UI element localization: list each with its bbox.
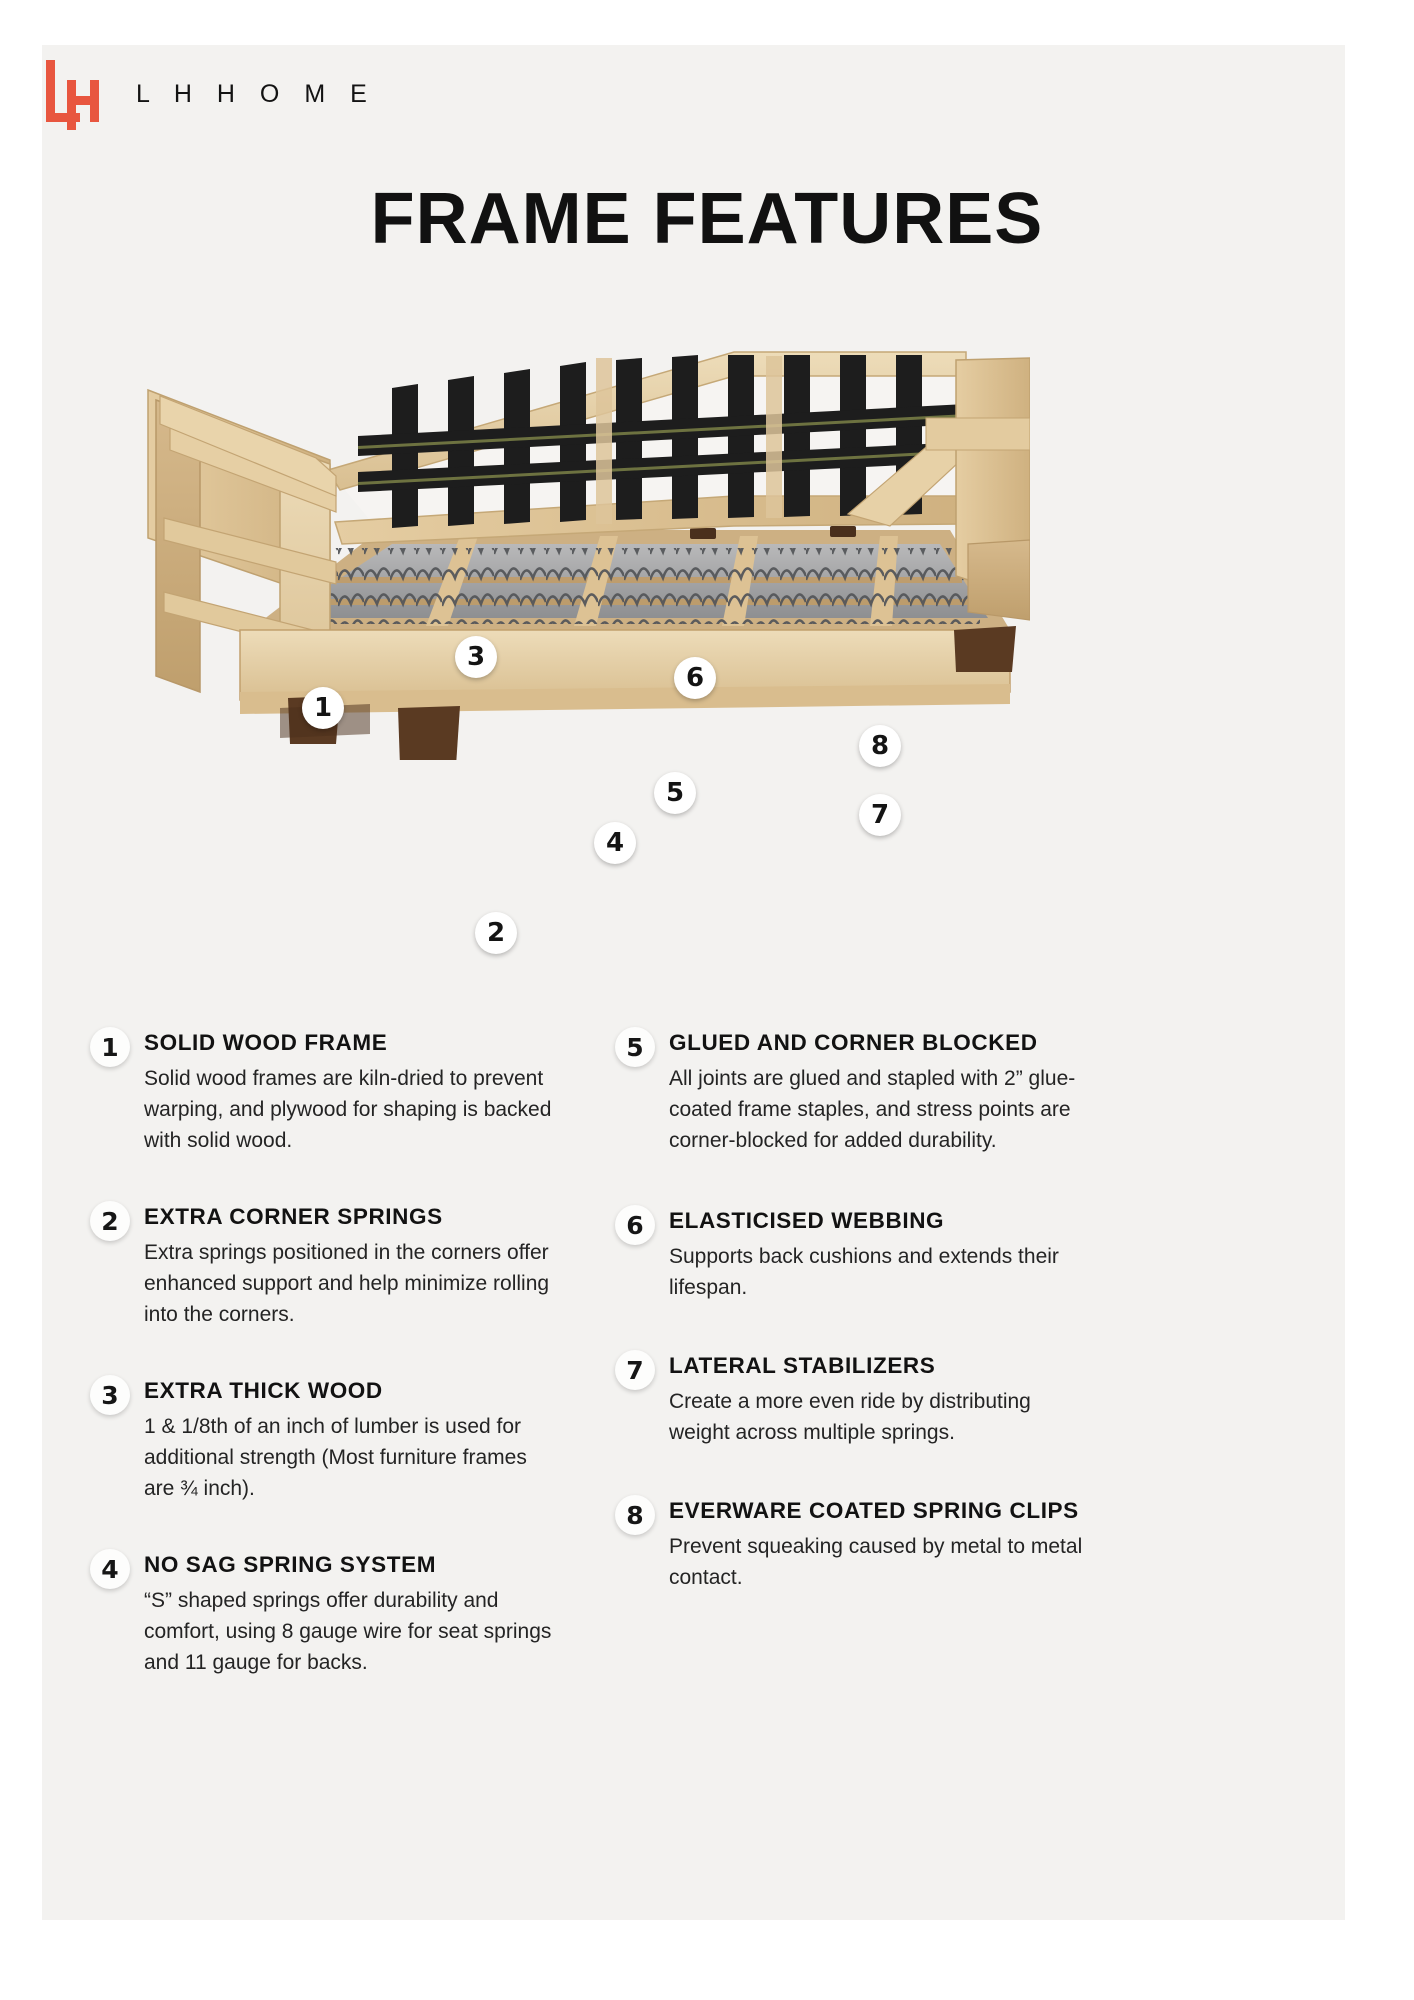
feature-title-1: SOLID WOOD FRAME [144, 1030, 560, 1056]
feature-badge-2: 2 [90, 1201, 130, 1241]
lh-monogram-logo-icon [44, 58, 106, 130]
feature-badge-1: 1 [90, 1027, 130, 1067]
feature-body-4: “S” shaped springs offer durability and … [144, 1585, 560, 1678]
feature-item-3: 3 EXTRA THICK WOOD 1 & 1/8th of an inch … [90, 1378, 560, 1504]
features-list: 1 SOLID WOOD FRAME Solid wood frames are… [90, 1030, 1270, 1678]
hero-callout-2: 2 [475, 912, 517, 954]
feature-title-5: GLUED AND CORNER BLOCKED [669, 1030, 1085, 1056]
feature-body-2: Extra springs positioned in the corners … [144, 1237, 560, 1330]
feature-body-3: 1 & 1/8th of an inch of lumber is used f… [144, 1411, 560, 1504]
brand-header: L H H O M E [44, 58, 376, 130]
feature-item-2: 2 EXTRA CORNER SPRINGS Extra springs pos… [90, 1204, 560, 1330]
page-title: FRAME FEATURES [0, 178, 1414, 260]
feature-item-5: 5 GLUED AND CORNER BLOCKED All joints ar… [615, 1030, 1085, 1156]
hero-callout-1: 1 [302, 687, 344, 729]
feature-title-3: EXTRA THICK WOOD [144, 1378, 560, 1404]
hero-callout-4: 4 [594, 822, 636, 864]
feature-badge-5: 5 [615, 1027, 655, 1067]
hero-callout-6: 6 [674, 657, 716, 699]
feature-body-7: Create a more even ride by distributing … [669, 1386, 1085, 1448]
feature-body-1: Solid wood frames are kiln-dried to prev… [144, 1063, 560, 1156]
brand-name: L H H O M E [136, 80, 376, 109]
feature-item-6: 6 ELASTICISED WEBBING Supports back cush… [615, 1208, 1085, 1303]
features-column-right: 5 GLUED AND CORNER BLOCKED All joints ar… [615, 1030, 1085, 1678]
feature-title-8: EVERWARE COATED SPRING CLIPS [669, 1498, 1085, 1524]
feature-body-8: Prevent squeaking caused by metal to met… [669, 1531, 1085, 1593]
feature-badge-4: 4 [90, 1549, 130, 1589]
hero-callout-5: 5 [654, 772, 696, 814]
feature-body-6: Supports back cushions and extends their… [669, 1241, 1085, 1303]
feature-item-7: 7 LATERAL STABILIZERS Create a more even… [615, 1353, 1085, 1448]
frame-photo: 1 2 3 4 5 6 7 8 [130, 300, 1030, 760]
feature-title-2: EXTRA CORNER SPRINGS [144, 1204, 560, 1230]
hero-callout-3: 3 [455, 636, 497, 678]
hero-callout-8: 8 [859, 725, 901, 767]
feature-body-5: All joints are glued and stapled with 2”… [669, 1063, 1085, 1156]
sofa-frame-illustration [130, 300, 1030, 760]
feature-title-7: LATERAL STABILIZERS [669, 1353, 1085, 1379]
feature-item-4: 4 NO SAG SPRING SYSTEM “S” shaped spring… [90, 1552, 560, 1678]
feature-item-8: 8 EVERWARE COATED SPRING CLIPS Prevent s… [615, 1498, 1085, 1593]
feature-badge-3: 3 [90, 1375, 130, 1415]
infographic-page: L H H O M E FRAME FEATURES [0, 0, 1414, 2000]
features-column-left: 1 SOLID WOOD FRAME Solid wood frames are… [90, 1030, 560, 1678]
feature-badge-6: 6 [615, 1205, 655, 1245]
feature-badge-8: 8 [615, 1495, 655, 1535]
feature-item-1: 1 SOLID WOOD FRAME Solid wood frames are… [90, 1030, 560, 1156]
feature-title-6: ELASTICISED WEBBING [669, 1208, 1085, 1234]
feature-title-4: NO SAG SPRING SYSTEM [144, 1552, 560, 1578]
feature-badge-7: 7 [615, 1350, 655, 1390]
hero-callout-7: 7 [859, 794, 901, 836]
